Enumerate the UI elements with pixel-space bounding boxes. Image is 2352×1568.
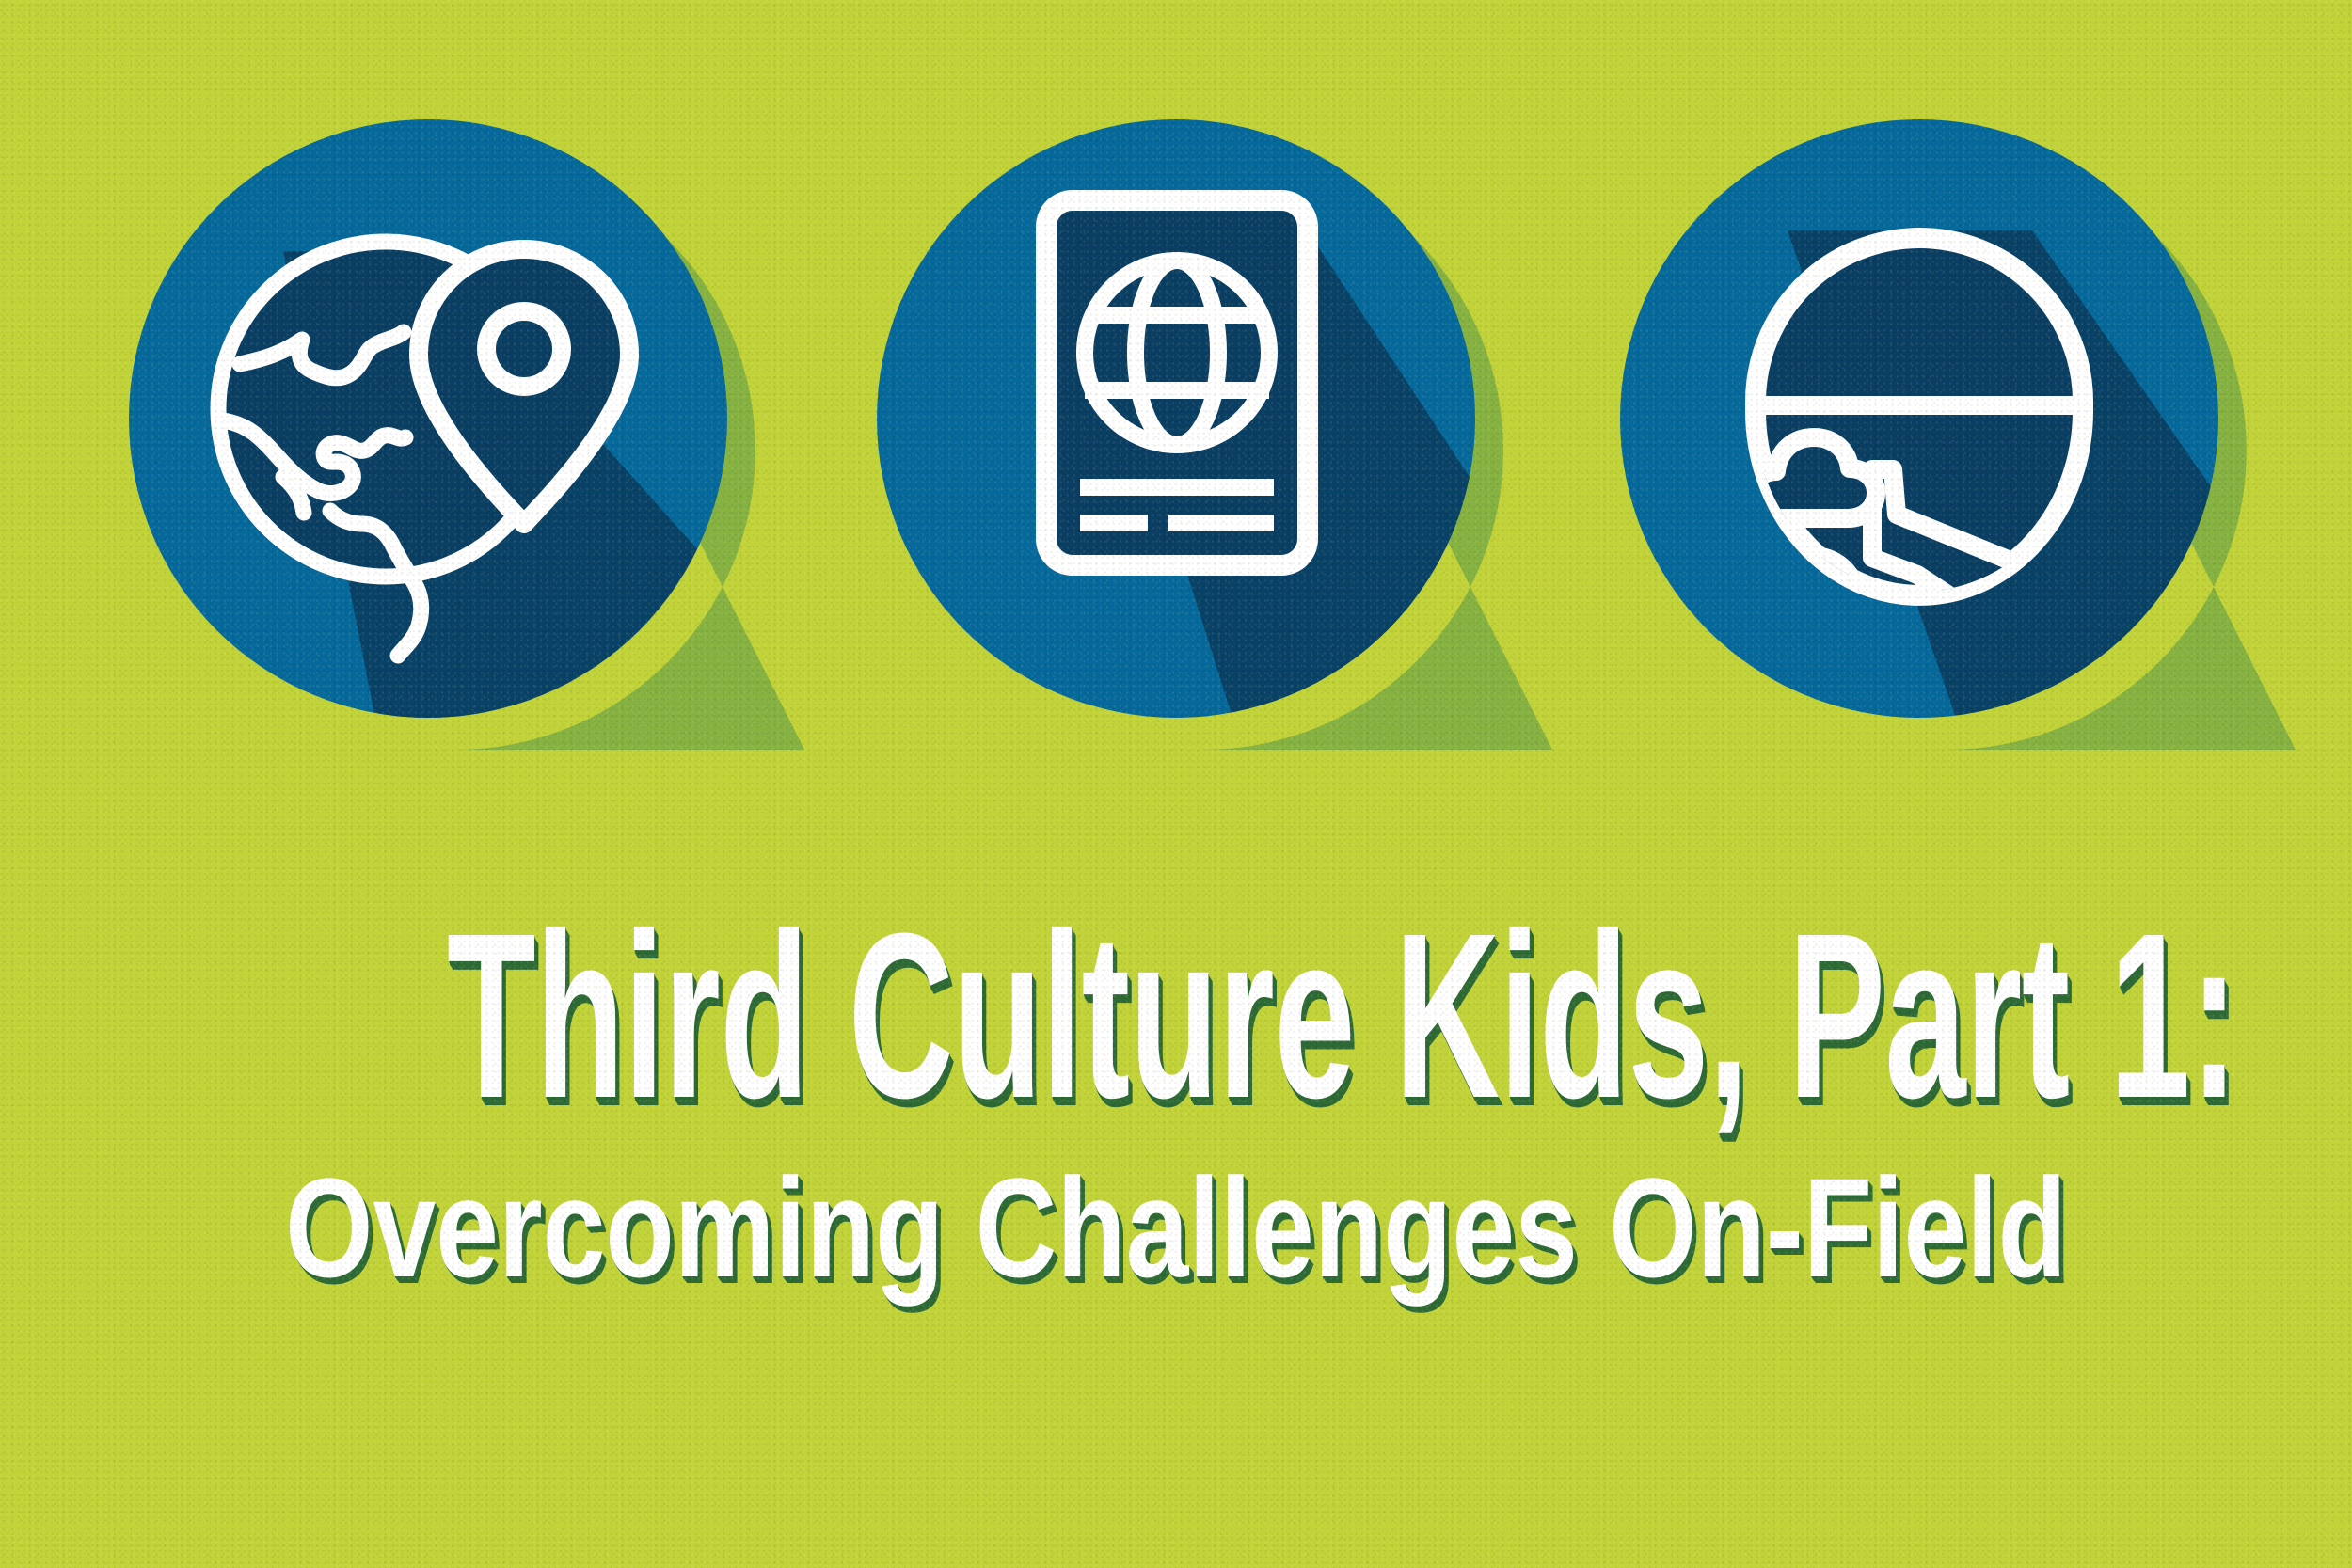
badge-airplane-window[interactable]: [1590, 89, 2249, 748]
page-title: Third Culture Kids, Part 1:: [447, 903, 1905, 1129]
badge-globe-pin[interactable]: [99, 89, 757, 748]
poster-canvas: Third Culture Kids, Part 1: Overcoming C…: [0, 0, 2352, 1568]
icon-row: [0, 0, 2352, 847]
title-block: Third Culture Kids, Part 1: Overcoming C…: [0, 903, 2352, 1298]
passport-glyph: [1046, 200, 1308, 565]
badge-passport[interactable]: [847, 89, 1505, 748]
page-subtitle: Overcoming Challenges On-Field: [235, 1157, 2117, 1298]
